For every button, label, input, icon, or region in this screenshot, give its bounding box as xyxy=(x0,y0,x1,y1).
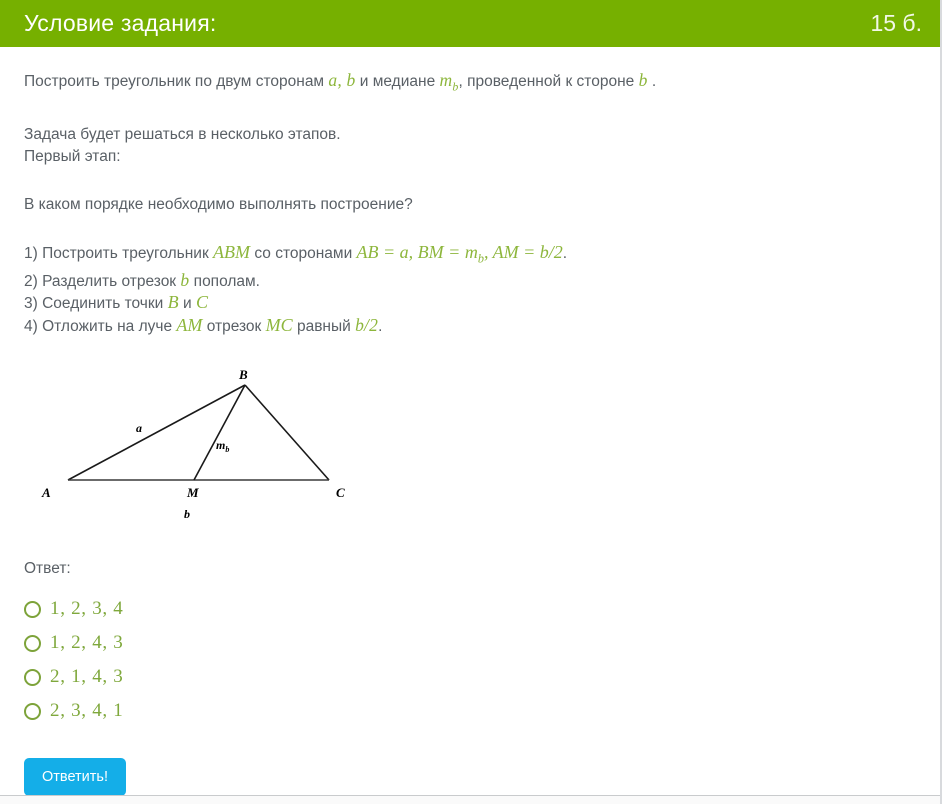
statement-math-mb: mb xyxy=(440,70,459,90)
label-vertex-b: B xyxy=(238,367,248,382)
triangle-diagram-svg: A B C M a mb b xyxy=(24,365,364,530)
segment-ab xyxy=(68,385,245,480)
statement-part-3: , проведенной к стороне xyxy=(459,73,635,90)
step-1-math-abm: ABM xyxy=(213,242,250,262)
step-4-text-1: Отложить на луче xyxy=(42,318,172,335)
statement-part-1: Построить треугольник по двум сторонам xyxy=(24,73,324,90)
answer-option-4[interactable]: 2, 3, 4, 1 xyxy=(24,694,224,728)
step-4-math-bhalf: b/2 xyxy=(355,315,378,335)
step-4-text-3: равный xyxy=(297,318,351,335)
answer-option-1[interactable]: 1, 2, 3, 4 xyxy=(24,592,224,626)
step-2-number: 2) xyxy=(24,273,38,290)
task-question: В каком порядке необходимо выполнять пос… xyxy=(24,194,916,216)
step-4-math-mc: MC xyxy=(266,315,293,335)
step-2-text-2: пополам. xyxy=(194,273,260,290)
triangle-figure: A B C M a mb b xyxy=(24,365,364,530)
task-header: Условие задания: 15 б. xyxy=(0,0,940,47)
label-side-b: b xyxy=(184,507,190,521)
task-content: Построить треугольник по двум сторонам a… xyxy=(0,47,940,796)
step-4-math-am: AM xyxy=(176,315,202,335)
step-item-2: 2) Разделить отрезок b пополам. xyxy=(24,270,916,293)
task-statement: Построить треугольник по двум сторонам a… xyxy=(24,69,916,98)
points-badge: 15 б. xyxy=(870,10,922,37)
step-1-text-3: . xyxy=(563,245,567,262)
answer-option-2[interactable]: 1, 2, 4, 3 xyxy=(24,626,224,660)
submit-wrapper: Ответить! xyxy=(24,758,916,796)
step-4-text-2: отрезок xyxy=(207,318,262,335)
page-title: Условие задания: xyxy=(24,10,216,37)
step-3-text-2: и xyxy=(183,295,192,312)
math-mb-base: m xyxy=(440,70,453,90)
label-median-mb: mb xyxy=(216,438,229,454)
radio-button-icon[interactable] xyxy=(24,601,41,618)
radio-button-icon[interactable] xyxy=(24,669,41,686)
step-1-text-2: со сторонами xyxy=(254,245,352,262)
answer-option-3[interactable]: 2, 1, 4, 3 xyxy=(24,660,224,694)
answer-label: Ответ: xyxy=(24,560,916,578)
answer-option-label: 1, 2, 4, 3 xyxy=(50,632,124,654)
answer-option-label: 1, 2, 3, 4 xyxy=(50,598,124,620)
step-1-text-1: Построить треугольник xyxy=(42,245,209,262)
statement-part-4: . xyxy=(652,73,656,90)
label-vertex-a: A xyxy=(41,485,51,500)
step-1-math-sides-base: AB = a, BM = m xyxy=(357,242,478,262)
stages-line-1: Задача будет решаться в несколько этапов… xyxy=(24,124,916,146)
submit-answer-button[interactable]: Ответить! xyxy=(24,758,126,796)
step-3-math-b: B xyxy=(168,292,179,312)
step-2-text-1: Разделить отрезок xyxy=(42,273,176,290)
answer-option-label: 2, 1, 4, 3 xyxy=(50,666,124,688)
radio-button-icon[interactable] xyxy=(24,635,41,652)
statement-part-2: и медиане xyxy=(360,73,435,90)
step-1-math-sides-rest: , AM = b/2 xyxy=(484,242,563,262)
step-3-text-1: Соединить точки xyxy=(42,295,163,312)
step-4-text-4: . xyxy=(378,318,382,335)
step-3-math-c: C xyxy=(196,292,208,312)
step-2-math-b: b xyxy=(180,270,189,290)
answer-option-label: 2, 3, 4, 1 xyxy=(50,700,124,722)
step-3-number: 3) xyxy=(24,295,38,312)
bottom-strip xyxy=(0,796,940,804)
step-item-3: 3) Соединить точки B и C xyxy=(24,292,916,315)
statement-math-ab: a, b xyxy=(328,70,355,90)
step-item-4: 4) Отложить на луче AM отрезок MC равный… xyxy=(24,315,916,338)
label-vertex-c: C xyxy=(336,485,345,500)
radio-button-icon[interactable] xyxy=(24,703,41,720)
segment-bc xyxy=(245,385,329,480)
step-4-number: 4) xyxy=(24,318,38,335)
label-side-a: a xyxy=(136,421,142,435)
step-1-math-sides: AB = a, BM = mb, AM = b/2 xyxy=(357,242,563,262)
step-1-number: 1) xyxy=(24,245,38,262)
label-point-m: M xyxy=(186,485,199,500)
stages-line-2: Первый этап: xyxy=(24,146,916,168)
task-page: Условие задания: 15 б. Построить треугол… xyxy=(0,0,942,804)
step-item-1: 1) Построить треугольник ABM со сторонам… xyxy=(24,242,916,270)
answer-options-list: 1, 2, 3, 41, 2, 4, 32, 1, 4, 32, 3, 4, 1 xyxy=(24,592,916,728)
statement-math-b: b xyxy=(639,70,648,90)
